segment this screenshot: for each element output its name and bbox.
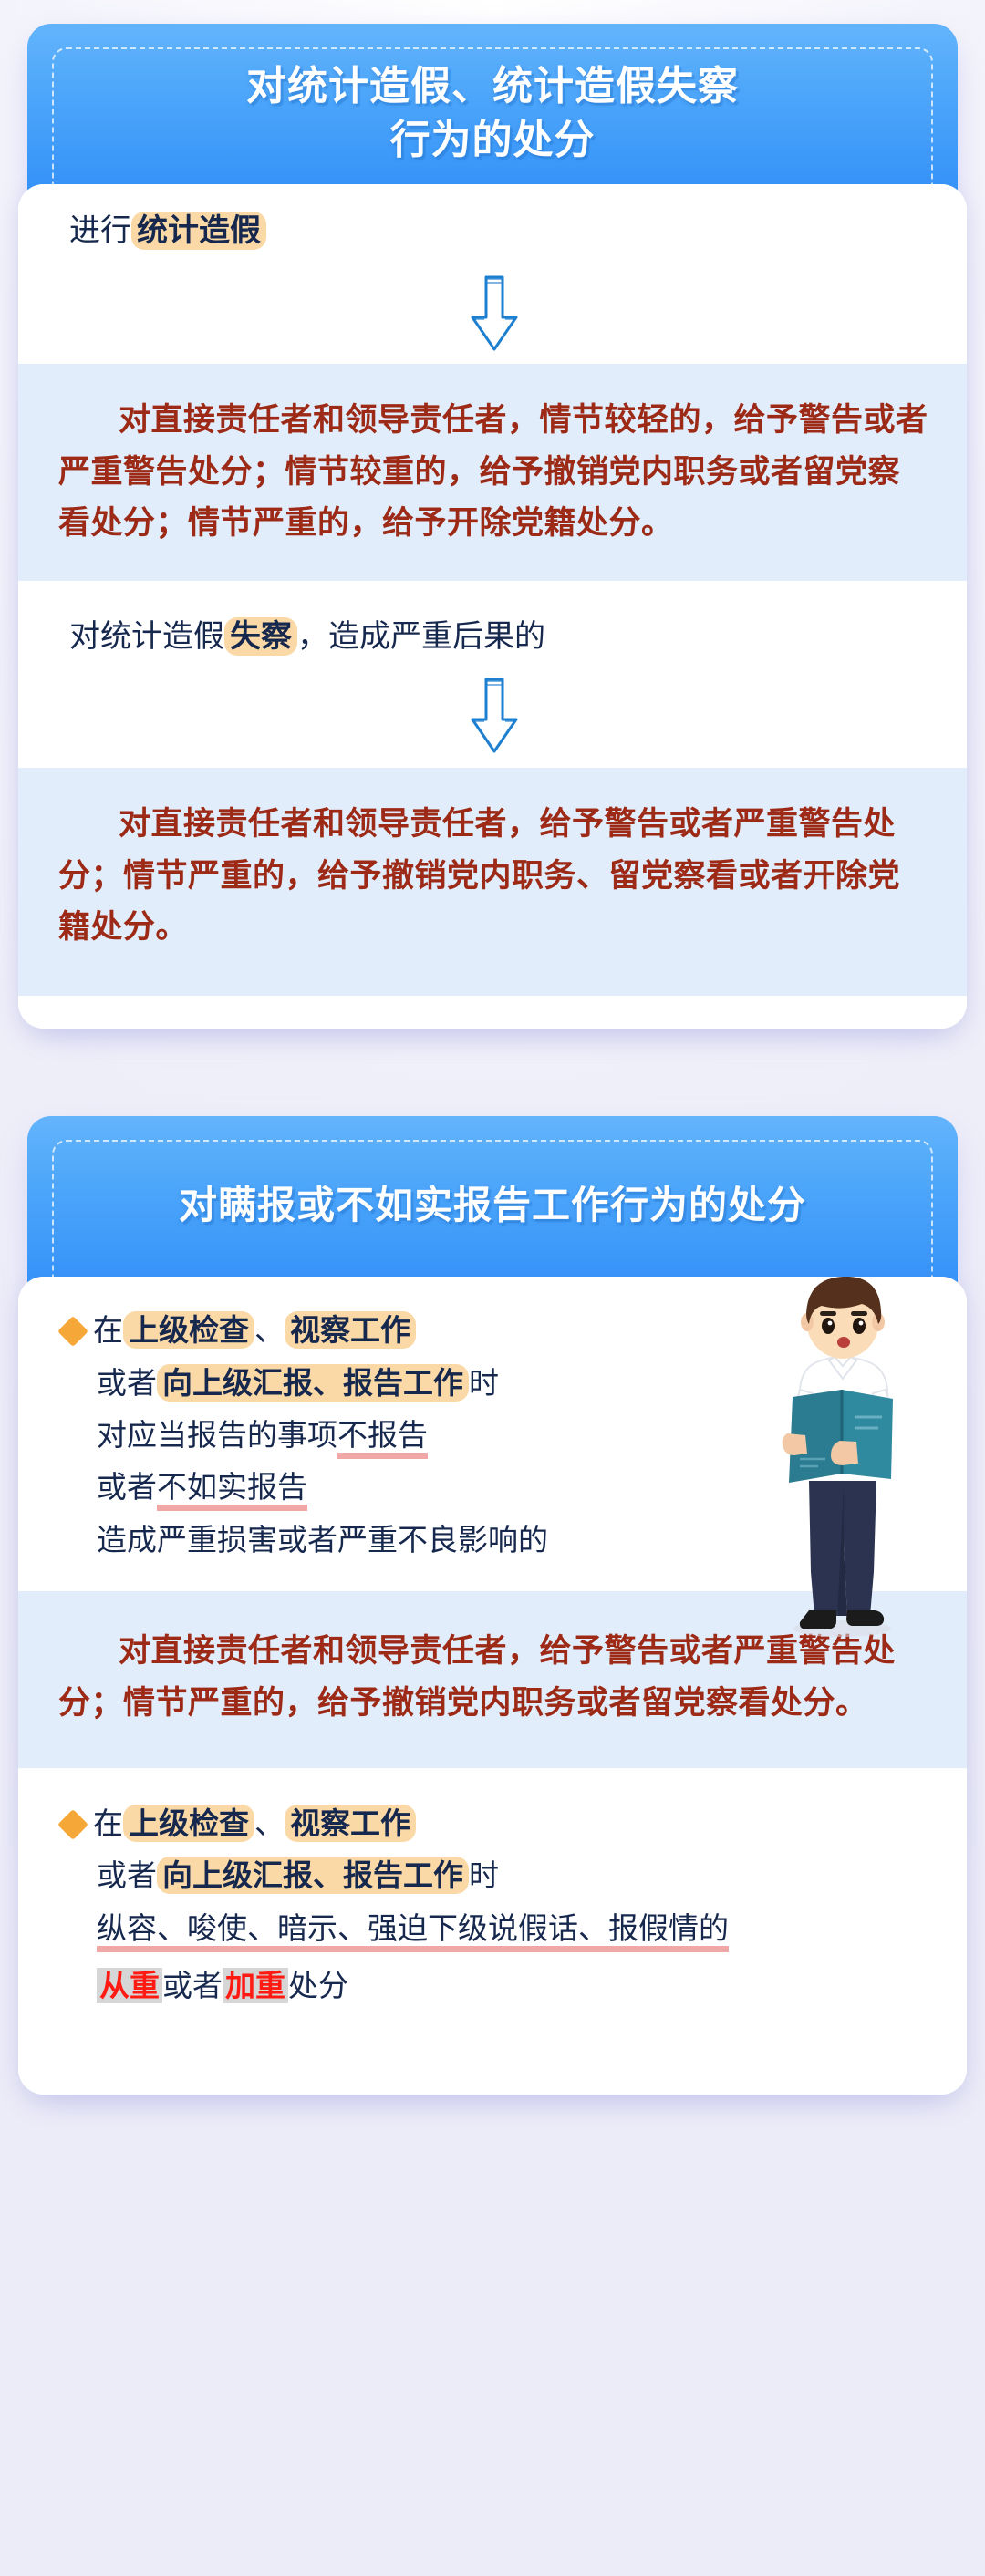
card1-lead1-prefix: 进行 <box>69 213 131 248</box>
card2-bullet1-block: 在上级检查、视察工作 或者向上级汇报、报告工作时 对应当报告的事项不报告 或者不… <box>18 1277 967 1591</box>
card2-bottom-pad <box>18 2042 967 2095</box>
b2-l2-t0: 或者 <box>97 1858 157 1892</box>
card1-consequence1: 对直接责任者和领导责任者，情节较轻的，给予警告或者严重警告处分；情节较重的，给予… <box>58 395 930 550</box>
card1-consequence2: 对直接责任者和领导责任者，给予警告或者严重警告处分；情节严重的，给予撤销党内职务… <box>58 799 930 954</box>
b2-l1-t2: 、 <box>254 1806 285 1840</box>
bullet-line-2: 或者向上级汇报、报告工作时 <box>62 1359 752 1407</box>
down-arrow-icon <box>469 677 520 755</box>
card1-arrow2-wrap <box>58 671 930 759</box>
card2-bullet-list-1: 在上级检查、视察工作 或者向上级汇报、报告工作时 对应当报告的事项不报告 或者不… <box>58 1306 752 1564</box>
card1-arrow2-block <box>18 667 967 768</box>
card1-arrow1-wrap <box>58 269 930 357</box>
b1-l3-t0: 对应当报告的事项 <box>97 1418 337 1452</box>
card2-bullet2-block: 在上级检查、视察工作 或者向上级汇报、报告工作时 纵容、唆使、暗示、强迫下级说假… <box>18 1768 967 2042</box>
card1-lead2-prefix: 对统计造假 <box>69 619 224 654</box>
b1-l2-t0: 或者 <box>97 1366 157 1400</box>
b2-l4-t2: 加重 <box>223 1968 288 2003</box>
b1-l1-t2: 、 <box>254 1313 285 1347</box>
card1-arrow1-block <box>18 265 967 364</box>
card1-lead2: 对统计造假失察，造成严重后果的 <box>58 614 930 660</box>
card-statistical-fraud: 对统计造假、统计造假失察 行为的处分 进行统计造假 <box>18 24 967 1029</box>
b2-l2-t1: 向上级汇报、报告工作 <box>157 1857 469 1894</box>
top-spacer <box>0 0 985 24</box>
b2-l4-t1: 或者 <box>162 1969 223 2002</box>
card-false-reporting: 对瞒报或不如实报告工作行为的处分 <box>18 1116 967 2094</box>
card2-body: 在上级检查、视察工作 或者向上级汇报、报告工作时 对应当报告的事项不报告 或者不… <box>18 1277 967 2094</box>
card1-lead2-block: 对统计造假失察，造成严重后果的 <box>18 581 967 667</box>
b1-l2-t2: 时 <box>469 1366 499 1400</box>
bullet-line-3: 对应当报告的事项不报告 <box>62 1411 752 1459</box>
person-holding-folder-illustration <box>749 1277 936 1645</box>
card1-title: 对统计造假、统计造假失察 行为的处分 <box>246 59 739 168</box>
b1-l1-t1: 上级检查 <box>123 1311 254 1349</box>
b2-l1-t3: 视察工作 <box>285 1805 416 1842</box>
card1-consequence2-block: 对直接责任者和领导责任者，给予警告或者严重警告处分；情节严重的，给予撤销党内职务… <box>18 768 967 996</box>
card1-lead2-highlight: 失察 <box>224 617 297 656</box>
b1-l5-t0: 造成严重损害或者严重不良影响的 <box>97 1523 548 1557</box>
bullet2-line-2: 或者向上级汇报、报告工作时 <box>62 1851 930 1899</box>
b1-l3-t1: 不报告 <box>337 1418 428 1459</box>
b2-l2-t2: 时 <box>469 1858 499 1892</box>
bullet-line-5: 造成严重损害或者严重不良影响的 <box>62 1516 752 1564</box>
b2-l1-t1: 上级检查 <box>123 1805 254 1842</box>
diamond-bullet-icon <box>57 1809 88 1840</box>
diamond-bullet-icon <box>57 1316 88 1347</box>
card1-lead1-block: 进行统计造假 <box>18 184 967 265</box>
card1-body: 进行统计造假 对直接责任者和领导责任者，情节较轻的，给予警告或者严重警告处分；情… <box>18 184 967 1029</box>
card1-bottom-pad <box>18 996 967 1029</box>
bullet2-line-1: 在上级检查、视察工作 <box>62 1799 930 1847</box>
bullet2-line-3: 纵容、唆使、暗示、强迫下级说假话、报假情的 <box>62 1904 930 1952</box>
card2-title: 对瞒报或不如实报告工作行为的处分 <box>179 1180 806 1232</box>
bullet-line-4: 或者不如实报告 <box>62 1463 752 1511</box>
card1-lead1: 进行统计造假 <box>58 208 930 254</box>
bullet-line-1: 在上级检查、视察工作 <box>62 1306 752 1354</box>
b1-l4-t0: 或者 <box>97 1470 157 1504</box>
b1-l2-t1: 向上级汇报、报告工作 <box>157 1364 469 1402</box>
card1-title-line1: 对统计造假、统计造假失察 <box>246 64 739 109</box>
down-arrow-icon <box>469 274 520 353</box>
b1-l4-t1: 不如实报告 <box>157 1470 307 1511</box>
b2-l4-t3: 处分 <box>288 1969 348 2002</box>
card1-title-line2: 行为的处分 <box>390 118 596 162</box>
b1-l1-t3: 视察工作 <box>285 1311 416 1349</box>
infographic-page: 对统计造假、统计造假失察 行为的处分 进行统计造假 <box>0 0 985 2576</box>
card1-consequence1-block: 对直接责任者和领导责任者，情节较轻的，给予警告或者严重警告处分；情节较重的，给予… <box>18 364 967 581</box>
b2-l4-t0: 从重 <box>97 1968 162 2003</box>
cards-spacer <box>0 1029 985 1116</box>
b1-l1-t0: 在 <box>93 1313 123 1347</box>
b2-l1-t0: 在 <box>93 1806 123 1840</box>
b2-l3-t0: 纵容、唆使、暗示、强迫下级说假话、报假情的 <box>97 1911 729 1952</box>
card1-lead2-suffix: ，造成严重后果的 <box>297 619 545 654</box>
bullet2-line-4: 从重或者加重处分 <box>62 1961 930 2010</box>
card2-bullet-list-2: 在上级检查、视察工作 或者向上级汇报、报告工作时 纵容、唆使、暗示、强迫下级说假… <box>58 1799 930 2011</box>
card1-lead1-highlight: 统计造假 <box>131 212 266 250</box>
